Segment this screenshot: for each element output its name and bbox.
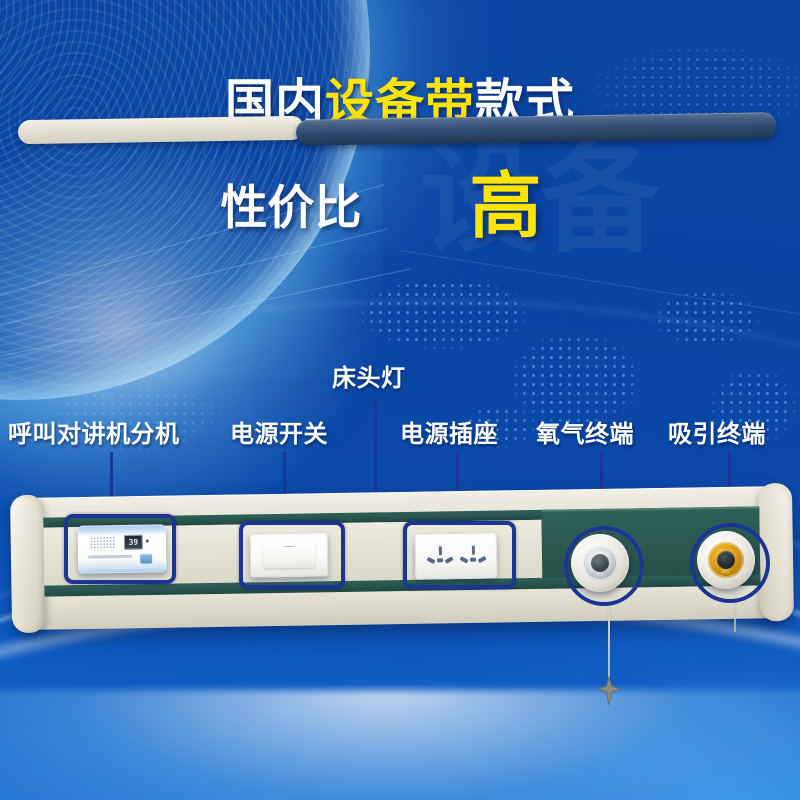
pull-cord-pendant[interactable] bbox=[596, 676, 622, 706]
panel-endcap-left bbox=[10, 495, 46, 634]
product-image-canvas: 设备 国内设备带款式 性价比高 呼叫对讲机分机 电源开关 床头灯 电源插座 氧气… bbox=[0, 0, 800, 800]
highlight-box-socket bbox=[403, 521, 516, 589]
callout-label-bedlight: 床头灯 bbox=[332, 358, 406, 393]
headline-line-2: 性价比高 bbox=[0, 151, 800, 256]
highlight-circle-suction bbox=[690, 523, 770, 603]
pull-cord-oxygen[interactable] bbox=[608, 602, 610, 682]
panel-lower-rail-left bbox=[18, 116, 304, 144]
highlight-box-switch bbox=[239, 521, 345, 589]
headline-block: 设备 国内设备带款式 性价比高 bbox=[0, 78, 800, 256]
halftone-world-map-right bbox=[340, 245, 800, 490]
light-arc-glow bbox=[0, 690, 800, 800]
callout-label-switch: 电源开关 bbox=[230, 414, 328, 449]
highlight-circle-oxygen bbox=[564, 526, 644, 606]
headline-l2-white: 性价比 bbox=[220, 169, 361, 238]
callout-label-suction: 吸引终端 bbox=[668, 414, 766, 449]
callout-label-oxygen: 氧气终端 bbox=[536, 414, 634, 449]
highlight-box-intercom bbox=[64, 514, 176, 584]
headline-l2-yellow: 高 bbox=[469, 147, 541, 252]
callout-label-socket: 电源插座 bbox=[400, 414, 498, 449]
callout-label-intercom: 呼叫对讲机分机 bbox=[8, 414, 180, 449]
